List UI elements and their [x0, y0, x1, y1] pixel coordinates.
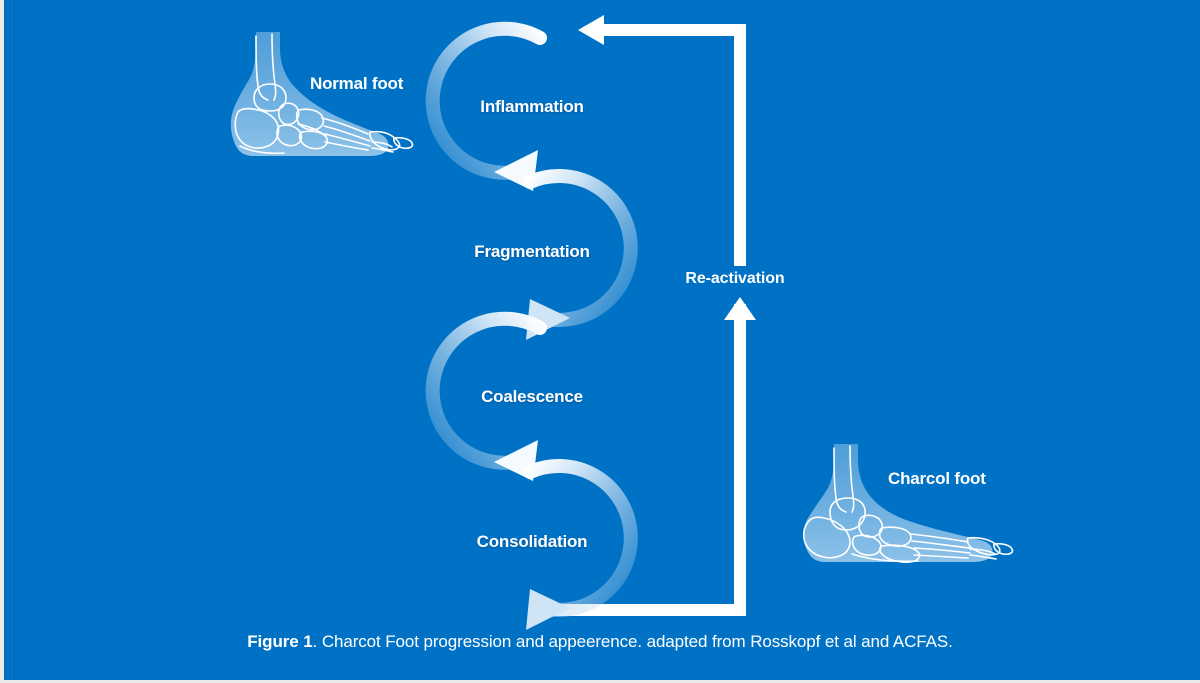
stage-label-coalescence: Coalescence	[422, 387, 642, 407]
edge-stripe	[9, 0, 10, 683]
stage-label-inflammation: Inflammation	[422, 97, 642, 117]
charcot-foot-illustration: Charcol foot	[778, 442, 1018, 592]
edge-stripe	[14, 0, 15, 683]
reactivation-label: Re-activation	[640, 270, 830, 288]
normal-foot-illustration: Normal foot	[196, 28, 428, 180]
normal-foot-label: Normal foot	[310, 74, 403, 94]
stage-label-fragmentation: Fragmentation	[422, 242, 642, 262]
figure-panel: Inflammation Fragmentation Coalescence C…	[0, 0, 1200, 683]
charcot-foot-label: Charcol foot	[888, 469, 986, 489]
foot-skeleton-icon	[196, 28, 428, 180]
left-edge-band	[0, 0, 4, 683]
caption-figure-number: Figure 1	[247, 632, 312, 651]
edge-stripe	[4, 0, 5, 683]
figure-caption: Figure 1. Charcot Foot progression and a…	[0, 632, 1200, 652]
foot-skeleton-collapsed-icon	[778, 442, 1018, 592]
stage-label-consolidation: Consolidation	[422, 532, 642, 552]
caption-text: . Charcot Foot progression and appeerenc…	[313, 632, 953, 651]
